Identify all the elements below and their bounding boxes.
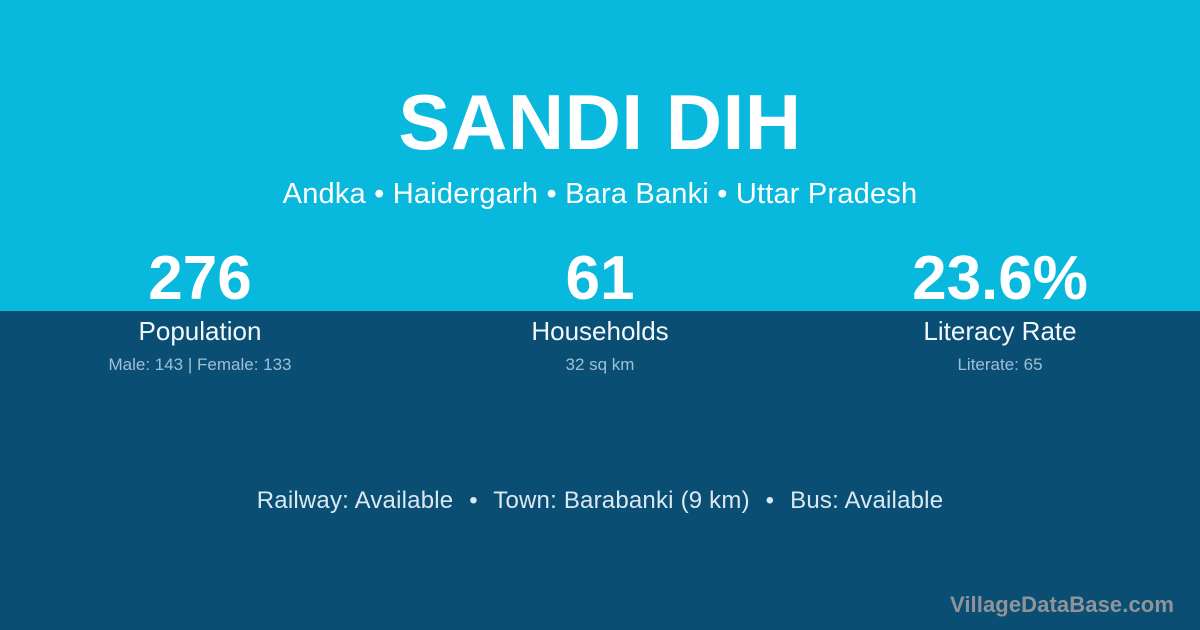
- infra-separator: •: [757, 487, 784, 514]
- stat-value: 276: [0, 246, 400, 312]
- stat-sub-detail: Male: 143 | Female: 133: [0, 355, 400, 375]
- stat-label: Literacy Rate: [800, 316, 1200, 346]
- stat-households: 61 Households 32 sq km: [400, 246, 800, 375]
- infrastructure-summary: Railway: Available • Town: Barabanki (9 …: [0, 486, 1200, 515]
- stat-sub-detail: 32 sq km: [400, 355, 800, 375]
- stats-row: 276 Population Male: 143 | Female: 133 6…: [0, 246, 1200, 375]
- infra-bus: Bus: Available: [790, 487, 943, 514]
- page-title: SANDI DIH: [0, 0, 1200, 163]
- stat-value: 23.6%: [800, 246, 1200, 312]
- stat-literacy-rate: 23.6% Literacy Rate Literate: 65: [800, 246, 1200, 375]
- village-info-card: SANDI DIH Andka • Haidergarh • Bara Bank…: [0, 0, 1200, 630]
- stat-population: 276 Population Male: 143 | Female: 133: [0, 246, 400, 375]
- stat-label: Households: [400, 316, 800, 346]
- infra-railway: Railway: Available: [257, 487, 454, 514]
- stat-sub-detail: Literate: 65: [800, 355, 1200, 375]
- breadcrumb: Andka • Haidergarh • Bara Banki • Uttar …: [0, 163, 1200, 211]
- infra-separator: •: [460, 487, 487, 514]
- infra-nearest-town: Town: Barabanki (9 km): [493, 487, 750, 514]
- stat-label: Population: [0, 316, 400, 346]
- stat-value: 61: [400, 246, 800, 312]
- site-watermark: VillageDataBase.com: [950, 592, 1174, 618]
- card-header: SANDI DIH Andka • Haidergarh • Bara Bank…: [0, 0, 1200, 210]
